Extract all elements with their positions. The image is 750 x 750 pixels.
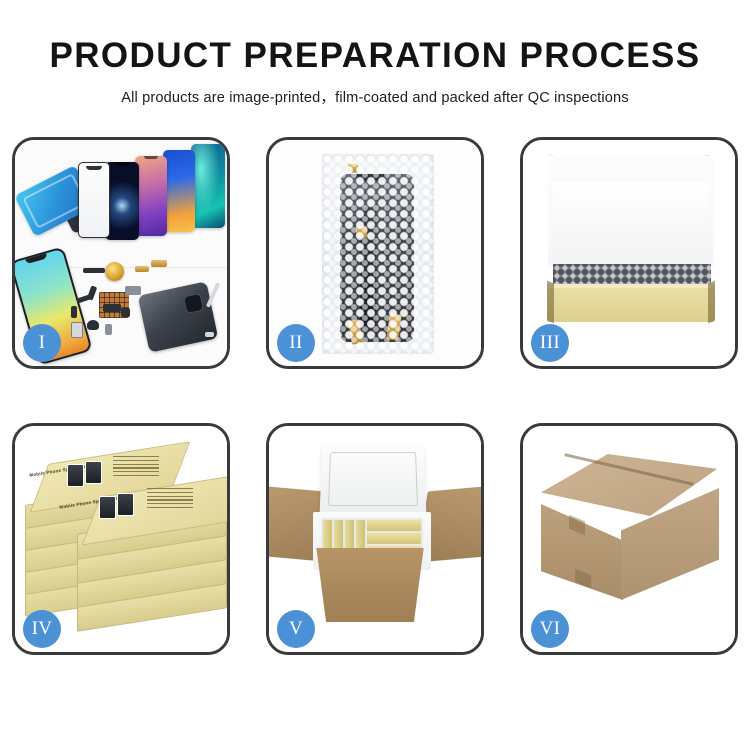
bubble-texture-offset (322, 154, 434, 354)
box-print-text-rear (113, 456, 159, 479)
yellow-box-base (547, 288, 715, 322)
page-title: PRODUCT PREPARATION PROCESS (0, 38, 750, 75)
phone-teal-wallpaper (191, 144, 225, 228)
part-screw (205, 332, 214, 337)
step-panel-5[interactable]: V (266, 423, 484, 655)
step-badge-5: V (277, 610, 315, 648)
step-panel-1[interactable]: I (12, 137, 230, 369)
part-shield (103, 304, 121, 312)
phone-blue-wallpaper (163, 150, 195, 232)
screen-protector (78, 162, 110, 238)
part-pin (71, 306, 77, 318)
step-image-3: III (523, 140, 735, 366)
step-panel-2[interactable]: II (266, 137, 484, 369)
step-panel-4[interactable]: Mobile Phone Spare Parts Mobile Phone Sp… (12, 423, 230, 655)
box-print-screen-a1 (67, 464, 84, 487)
step-badge-2: II (277, 324, 315, 362)
part-flex-ribbon (125, 286, 141, 295)
foam-lid-open (319, 446, 426, 517)
white-foam-sheet (553, 182, 709, 262)
step-image-6: VI (523, 426, 735, 652)
part-gold-flex (135, 266, 149, 272)
part-speaker (87, 320, 99, 330)
phone-purple-wallpaper (135, 156, 167, 236)
part-bracket (83, 268, 105, 273)
step-image-4: Mobile Phone Spare Parts Mobile Phone Sp… (15, 426, 227, 652)
step-panel-6[interactable]: VI (520, 423, 738, 655)
step-image-5: V (269, 426, 481, 652)
part-vibrator (105, 324, 112, 335)
box-print-screen-a2 (85, 461, 102, 484)
box-print-text-front (147, 488, 193, 511)
page-header: PRODUCT PREPARATION PROCESS All products… (0, 0, 750, 107)
box-print-screen-b2 (117, 493, 134, 516)
step-badge-3: III (531, 324, 569, 362)
step-image-2: II (269, 140, 481, 366)
carton-front-face (309, 548, 431, 622)
step-badge-6: VI (531, 610, 569, 648)
step-badge-1: I (23, 324, 61, 362)
box-stack: Mobile Phone Spare Parts Mobile Phone Sp… (21, 444, 221, 636)
part-gold-connector (151, 260, 167, 267)
part-small-ic (121, 308, 130, 317)
inner-box-h-1 (367, 520, 421, 531)
speaker-coil-part (105, 262, 124, 281)
inner-box-h-2 (367, 533, 421, 544)
step-badge-4: IV (23, 610, 61, 648)
box-print-screen-b1 (99, 496, 116, 519)
step-panel-3[interactable]: III (520, 137, 738, 369)
part-camera-lens (71, 322, 83, 338)
page-subtitle: All products are image-printed，film-coat… (0, 86, 750, 107)
phone-plasma-wallpaper (105, 162, 139, 240)
process-step-grid: I II (12, 137, 738, 655)
bubble-wrap-bag (322, 154, 434, 354)
step-image-1: I (15, 140, 227, 366)
